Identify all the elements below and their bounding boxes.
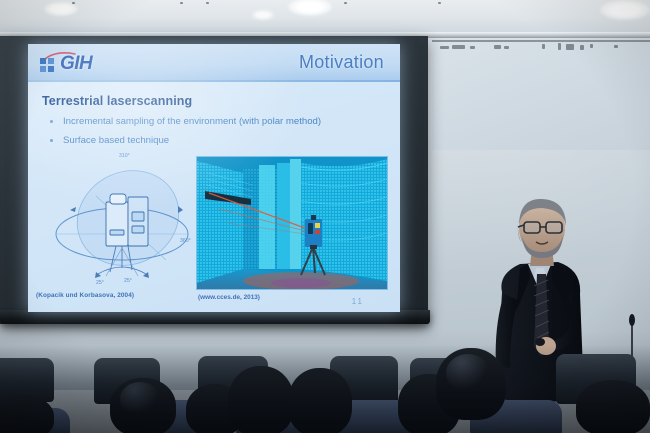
diagram-label-25-right: 25°: [124, 278, 132, 284]
audience-head: [228, 366, 294, 433]
diagram-label-360: 360°: [180, 238, 191, 244]
rail-screw: [72, 2, 75, 4]
ceiling-light: [600, 0, 650, 20]
rail-screw: [438, 2, 441, 4]
gih-logo: GIH: [40, 52, 160, 76]
lecture-hall-photo: GIH Motivation Terrestrial laserscanning…: [0, 0, 650, 433]
bullet-dot-icon: [50, 120, 53, 123]
rail-screw: [344, 2, 347, 4]
projection-screen-bottom-bar: [0, 310, 430, 324]
rail-screw: [180, 2, 183, 4]
audience-seating: [0, 352, 650, 433]
diagram-label-310: 310°: [119, 153, 130, 159]
slide-title: Motivation: [299, 52, 384, 73]
ceiling-light: [44, 2, 78, 16]
logo-text: GIH: [60, 53, 92, 75]
logo-grid-icon: [40, 58, 56, 73]
diagram-label-25-left: 25°: [96, 280, 104, 286]
slide-header-rule: [28, 80, 400, 82]
whiteboard: [432, 40, 650, 150]
presentation-slide: GIH Motivation Terrestrial laserscanning…: [28, 44, 400, 312]
slide-heading: Terrestrial laserscanning: [42, 94, 192, 108]
photo-caption: (www.cces.de, 2013): [198, 294, 260, 301]
audience-head: [576, 380, 650, 433]
ceiling-light: [252, 10, 274, 20]
head-highlight: [120, 382, 160, 416]
head-highlight: [446, 354, 490, 392]
diagram-caption: (Kopacik und Korbasova, 2004): [36, 292, 134, 299]
bullet-text: Incremental sampling of the environment …: [63, 116, 321, 127]
rail-screw: [206, 2, 209, 4]
slide-number: 11: [352, 297, 364, 306]
whiteboard-residual-writing: [438, 43, 644, 53]
point-cloud-photo: [196, 156, 388, 290]
point-cloud-scene: [197, 157, 387, 289]
bullet-text: Surface based technique: [63, 135, 169, 146]
audience-head: [288, 368, 352, 433]
bullet-dot-icon: [50, 139, 53, 142]
scanner-fov-diagram: 310° 360° 25° 25°: [36, 156, 212, 302]
